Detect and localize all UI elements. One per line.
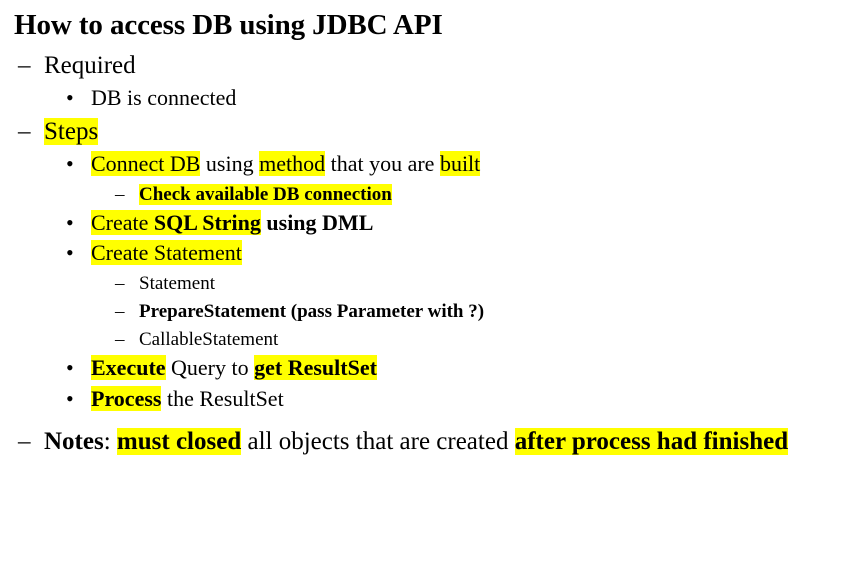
outline-item-level-1: –Notes: must closed all objects that are… — [0, 426, 846, 459]
outline-item-level-1: –Steps — [0, 116, 846, 148]
bullet-dash-icon: – — [115, 182, 139, 207]
bullet-dot-icon: • — [66, 239, 91, 268]
outline-item-level-2: •Connect DB using method that you are bu… — [0, 150, 846, 179]
outline-item-level-2: •Create SQL String using DML — [0, 209, 846, 238]
outline-item-text: Check available DB connection — [139, 182, 846, 207]
outline-item-level-2: •DB is connected — [0, 84, 846, 113]
outline-item-level-2: •Process the ResultSet — [0, 385, 846, 414]
highlighted-text-run: after process had finished — [515, 428, 788, 455]
highlighted-text-run: get ResultSet — [254, 355, 377, 380]
slide-canvas: How to access DB using JDBC API –Require… — [0, 0, 846, 561]
highlighted-text-run: Create — [91, 210, 154, 235]
outline-item-text: DB is connected — [91, 84, 846, 113]
outline-item-text: Notes: must closed all objects that are … — [44, 426, 832, 459]
highlighted-text-run: Process — [91, 386, 161, 411]
outline-item-text: Connect DB using method that you are bui… — [91, 150, 846, 179]
slide-outline-body: –Required•DB is connected–Steps•Connect … — [0, 41, 846, 458]
text-run: Statement — [139, 273, 215, 294]
outline-item-text: Required — [44, 50, 846, 82]
outline-item-text: Steps — [44, 116, 846, 148]
outline-item-level-3: –Statement — [0, 271, 846, 296]
text-run: all objects that are created — [241, 428, 514, 455]
text-run: Notes — [44, 428, 104, 455]
text-run: the ResultSet — [161, 386, 283, 411]
text-run: Required — [44, 52, 136, 79]
text-run: Query to — [166, 355, 255, 380]
text-run: : — [104, 428, 117, 455]
highlighted-text-run: built — [440, 151, 480, 176]
highlighted-text-run: Execute — [91, 355, 166, 380]
bullet-dash-icon: – — [115, 327, 139, 352]
bullet-dash-icon: – — [18, 426, 44, 459]
outline-item-level-3: –CallableStatement — [0, 327, 846, 352]
highlighted-text-run: Connect DB — [91, 151, 200, 176]
outline-item-level-1: –Required — [0, 50, 846, 82]
text-run: DB is connected — [91, 85, 236, 110]
highlighted-text-run: Check available DB connection — [139, 184, 392, 205]
slide-title: How to access DB using JDBC API — [0, 0, 846, 41]
outline-item-level-2: •Create Statement — [0, 239, 846, 268]
outline-item-text: Statement — [139, 271, 846, 296]
highlighted-text-run: SQL String — [154, 210, 261, 235]
highlighted-text-run: method — [259, 151, 325, 176]
outline-item-level-3: –PrepareStatement (pass Parameter with ?… — [0, 299, 846, 324]
bullet-dot-icon: • — [66, 354, 91, 383]
text-run: that you are — [325, 151, 440, 176]
bullet-dash-icon: – — [115, 299, 139, 324]
bullet-dot-icon: • — [66, 385, 91, 414]
bullet-dash-icon: – — [18, 50, 44, 82]
bullet-dot-icon: • — [66, 150, 91, 179]
bullet-dash-icon: – — [115, 271, 139, 296]
text-run: using DML — [261, 210, 373, 235]
bullet-dash-icon: – — [18, 116, 44, 148]
highlighted-text-run: must closed — [117, 428, 241, 455]
outline-item-level-2: •Execute Query to get ResultSet — [0, 354, 846, 383]
highlighted-text-run: Steps — [44, 118, 98, 145]
bullet-dot-icon: • — [66, 84, 91, 113]
highlighted-text-run: Create Statement — [91, 240, 242, 265]
outline-item-text: Execute Query to get ResultSet — [91, 354, 846, 383]
outline-item-text: Process the ResultSet — [91, 385, 846, 414]
text-run: using — [200, 151, 259, 176]
outline-item-text: PrepareStatement (pass Parameter with ?) — [139, 299, 846, 324]
text-run: CallableStatement — [139, 329, 278, 350]
outline-item-level-3: –Check available DB connection — [0, 182, 846, 207]
outline-item-text: Create Statement — [91, 239, 846, 268]
outline-item-text: CallableStatement — [139, 327, 846, 352]
bullet-dot-icon: • — [66, 209, 91, 238]
outline-item-text: Create SQL String using DML — [91, 209, 846, 238]
text-run: PrepareStatement (pass Parameter with ?) — [139, 301, 484, 322]
